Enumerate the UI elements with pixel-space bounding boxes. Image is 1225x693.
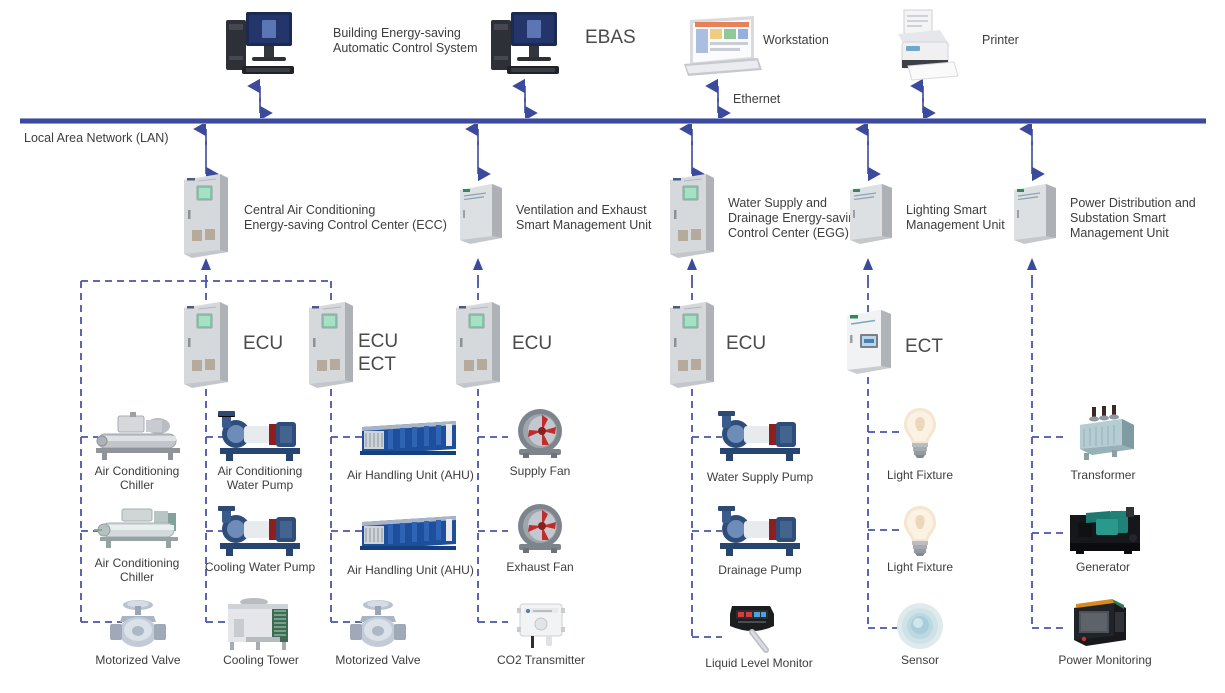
device-label-1-0: Air Conditioning Water Pump [190, 464, 330, 492]
pump-icon [218, 411, 300, 461]
cooling-tower-icon [228, 598, 288, 650]
device-label-2-2: Motorized Valve [308, 653, 448, 667]
device-label-2-0: Air Handling Unit (AHU) [333, 468, 488, 482]
lan-bus-line [20, 118, 1206, 124]
generator-icon [1070, 507, 1140, 554]
top-device-label-2: Workstation [763, 33, 829, 48]
controller-4[interactable] [1012, 182, 1058, 248]
ethernet-label: Ethernet [733, 92, 780, 107]
device-label-0-2: Motorized Valve [68, 653, 208, 667]
device-ac-water-pump[interactable] [214, 408, 306, 462]
light-bulb-icon [904, 506, 936, 556]
device-valve-2[interactable] [346, 598, 410, 650]
ect-panel-icon [847, 310, 891, 374]
ecu-cabinet-icon [456, 302, 500, 388]
device-label-6-0: Transformer [1033, 468, 1173, 482]
chiller-icon [94, 509, 178, 548]
pump-icon [718, 506, 800, 556]
device-transformer[interactable] [1066, 405, 1140, 461]
pump-icon [718, 411, 800, 461]
laptop-icon [684, 16, 762, 76]
device-label-3-2: CO2 Transmitter [471, 653, 611, 667]
field-unit-2[interactable] [452, 300, 504, 388]
wall-box-icon [460, 184, 502, 244]
device-ahu-1[interactable] [356, 415, 464, 457]
desktop-computer-icon [491, 12, 559, 74]
device-label-4-0: Water Supply Pump [690, 470, 830, 484]
motorized-valve-icon [110, 600, 166, 647]
top-device-1[interactable] [487, 8, 565, 86]
controller-3[interactable] [848, 182, 894, 248]
field-unit-3[interactable] [666, 300, 718, 388]
ahu-icon [360, 421, 456, 455]
device-label-5-2: Sensor [850, 653, 990, 667]
ecu-cabinet-icon [184, 302, 228, 388]
co2-transmitter-icon [517, 604, 565, 648]
device-label-5-1: Light Fixture [850, 560, 990, 574]
control-cabinet-icon [670, 174, 714, 258]
device-label-6-2: Power Monitoring [1030, 653, 1180, 667]
device-drainage-pump[interactable] [714, 503, 806, 557]
field-unit-4[interactable] [845, 308, 895, 380]
liquid-level-monitor-icon [730, 606, 774, 650]
system-architecture-diagram: Local Area Network (LAN) Ethernet Buildi… [0, 0, 1225, 693]
control-cabinet-icon [184, 174, 228, 258]
ecu-cabinet-icon [309, 302, 353, 388]
controller-label-0: Central Air Conditioning Energy-saving C… [244, 203, 447, 233]
device-light-fixture-2[interactable] [898, 503, 942, 557]
field-unit-label-3: ECU [726, 332, 766, 355]
device-exhaust-fan[interactable] [511, 502, 569, 554]
device-ahu-2[interactable] [356, 510, 464, 552]
controller-0[interactable] [180, 172, 232, 258]
lan-label: Local Area Network (LAN) [24, 131, 169, 146]
printer-icon [898, 10, 958, 80]
chiller-icon [96, 412, 180, 460]
top-device-3[interactable] [888, 8, 960, 84]
device-liquid-level-monitor[interactable] [718, 600, 790, 654]
device-label-3-0: Supply Fan [470, 464, 610, 478]
device-label-6-1: Generator [1033, 560, 1173, 574]
field-unit-label-2: ECU [512, 332, 552, 355]
wall-box-icon [1014, 184, 1056, 244]
device-label-0-1: Air Conditioning Chiller [67, 556, 207, 584]
motorized-valve-icon [350, 600, 406, 647]
device-sensor[interactable] [896, 602, 944, 650]
top-device-label-1: EBAS [585, 26, 636, 49]
sensor-icon [897, 603, 943, 649]
desktop-computer-icon [226, 12, 294, 74]
controller-label-3: Lighting Smart Management Unit [906, 203, 1005, 233]
device-label-2-1: Air Handling Unit (AHU) [333, 563, 488, 577]
controller-1[interactable] [458, 182, 504, 248]
device-generator[interactable] [1066, 505, 1146, 555]
field-unit-0[interactable] [180, 300, 232, 388]
device-power-monitoring[interactable] [1068, 598, 1132, 652]
device-supply-fan[interactable] [511, 407, 569, 459]
controller-label-2: Water Supply and Drainage Energy-saving … [728, 196, 862, 241]
device-co2-transmitter[interactable] [512, 600, 570, 650]
device-water-supply-pump[interactable] [714, 408, 806, 462]
device-chiller-2[interactable] [88, 505, 186, 553]
field-unit-label-0: ECU [243, 332, 283, 355]
pump-icon [218, 506, 300, 556]
field-unit-label-4: ECT [905, 335, 943, 358]
device-label-0-0: Air Conditioning Chiller [67, 464, 207, 492]
top-device-2[interactable] [678, 14, 764, 80]
light-bulb-icon [904, 408, 936, 458]
device-label-4-1: Drainage Pump [690, 563, 830, 577]
controller-2[interactable] [666, 172, 718, 258]
ecu-cabinet-icon [670, 302, 714, 388]
device-cooling-tower[interactable] [220, 595, 302, 651]
top-device-label-3: Printer [982, 33, 1019, 48]
device-label-5-0: Light Fixture [850, 468, 990, 482]
controller-label-1: Ventilation and Exhaust Smart Management… [516, 203, 651, 233]
transformer-icon [1080, 405, 1134, 460]
wall-box-icon [850, 184, 892, 244]
controller-label-4: Power Distribution and Substation Smart … [1070, 196, 1196, 241]
fan-icon [518, 409, 562, 458]
device-cooling-water-pump[interactable] [214, 503, 306, 557]
field-unit-1[interactable] [305, 300, 357, 388]
power-monitoring-icon [1074, 599, 1126, 646]
device-valve-1[interactable] [106, 598, 170, 650]
ahu-icon [360, 516, 456, 550]
field-unit-label-1: ECU ECT [358, 330, 398, 376]
device-light-fixture-1[interactable] [898, 405, 942, 459]
device-label-1-1: Cooling Water Pump [190, 560, 330, 574]
top-device-label-0: Building Energy-saving Automatic Control… [333, 26, 478, 56]
top-device-0[interactable] [222, 8, 300, 86]
device-chiller-1[interactable] [88, 410, 186, 462]
device-label-3-1: Exhaust Fan [470, 560, 610, 574]
fan-icon [518, 504, 562, 553]
device-label-4-2: Liquid Level Monitor [684, 656, 834, 670]
